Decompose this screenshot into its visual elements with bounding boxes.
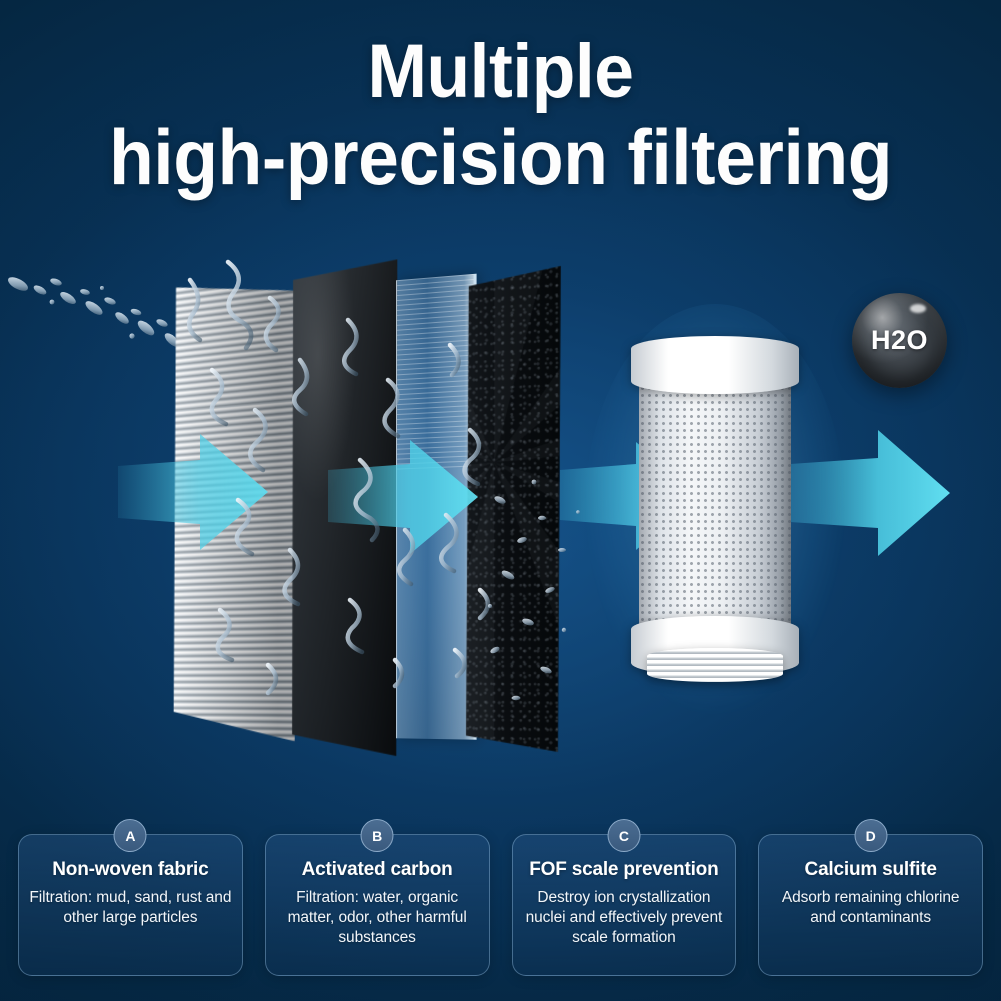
title-line-2: high-precision filtering: [30, 118, 971, 196]
filter-layer-stack: [0, 255, 620, 775]
card-desc-a: Filtration: mud, sand, rust and other la…: [27, 888, 234, 928]
cartridge-mesh-body: [639, 364, 791, 644]
card-title-a: Non-woven fabric: [27, 859, 234, 881]
pleated-non-woven-layer: [174, 267, 297, 746]
h2o-label: H2O: [871, 325, 928, 356]
translucent-membrane-layer: [396, 274, 476, 740]
h2o-highlight-icon: [910, 304, 926, 313]
card-badge-a: A: [114, 819, 147, 852]
page-title: Multiple high-precision filtering: [0, 34, 1001, 196]
card-desc-c: Destroy ion crystallization nuclei and e…: [521, 888, 728, 948]
card-badge-d: D: [854, 819, 887, 852]
card-badge-b: B: [361, 819, 394, 852]
feature-card-a[interactable]: A Non-woven fabric Filtration: mud, sand…: [18, 834, 243, 976]
card-title-d: Calcium sulfite: [767, 859, 974, 881]
card-title-b: Activated carbon: [274, 859, 481, 881]
cartridge-top-cap: [631, 336, 799, 394]
filter-cartridge: [625, 330, 805, 680]
charcoal-slab-layer: [292, 259, 397, 756]
card-desc-d: Adsorb remaining chlorine and contaminan…: [767, 888, 974, 928]
h2o-sphere: H2O: [852, 293, 947, 388]
feature-card-row: A Non-woven fabric Filtration: mud, sand…: [18, 834, 983, 976]
card-title-c: FOF scale prevention: [521, 859, 728, 881]
feature-card-b[interactable]: B Activated carbon Filtration: water, or…: [265, 834, 490, 976]
feature-card-c[interactable]: C FOF scale prevention Destroy ion cryst…: [512, 834, 737, 976]
card-desc-b: Filtration: water, organic matter, odor,…: [274, 888, 481, 948]
granular-carbon-layer: [466, 266, 561, 752]
cartridge-threaded-base: [647, 648, 783, 682]
product-infographic: Multiple high-precision filtering: [0, 0, 1001, 1001]
feature-card-d[interactable]: D Calcium sulfite Adsorb remaining chlor…: [758, 834, 983, 976]
card-badge-c: C: [607, 819, 640, 852]
title-line-1: Multiple: [30, 34, 971, 110]
